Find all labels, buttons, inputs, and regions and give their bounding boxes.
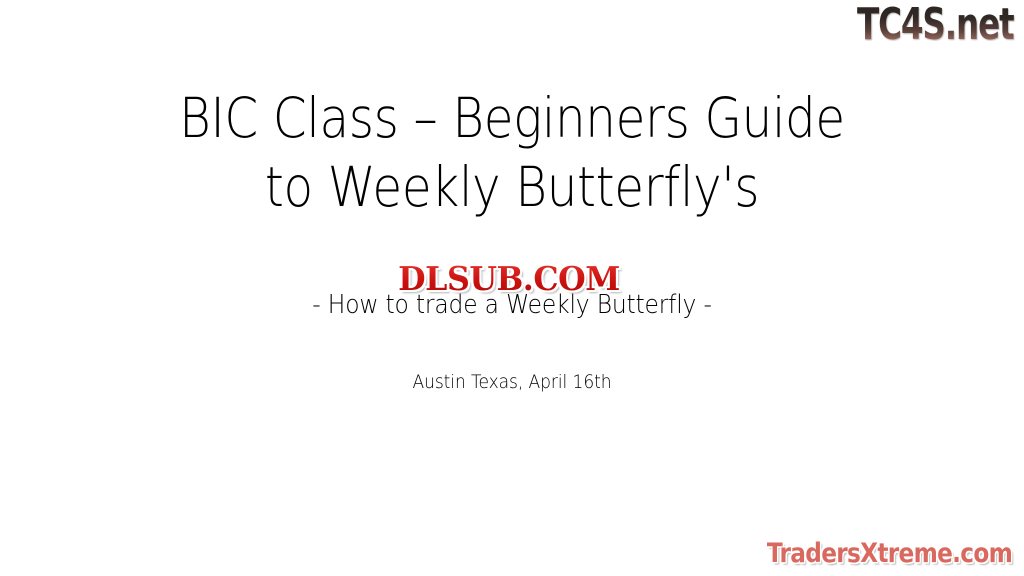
title-line-1: BIC Class – Beginners Guide [61,84,962,153]
subtitle-text: - How to trade a Weekly Butterfly - [51,290,973,320]
event-location-date: Austin Texas, April 16th [51,370,973,394]
page-title: BIC Class – Beginners Guide to Weekly Bu… [0,84,1024,222]
tradersxtreme-com-logo: TradersXtreme.com [767,538,1012,570]
tc4s-net-logo: TC4S.net [857,2,1014,48]
presentation-slide: TC4S.net BIC Class – Beginners Guide to … [0,0,1024,576]
subtitle: - How to trade a Weekly Butterfly - [0,290,1024,320]
title-line-2: to Weekly Butterfly's [61,153,962,222]
